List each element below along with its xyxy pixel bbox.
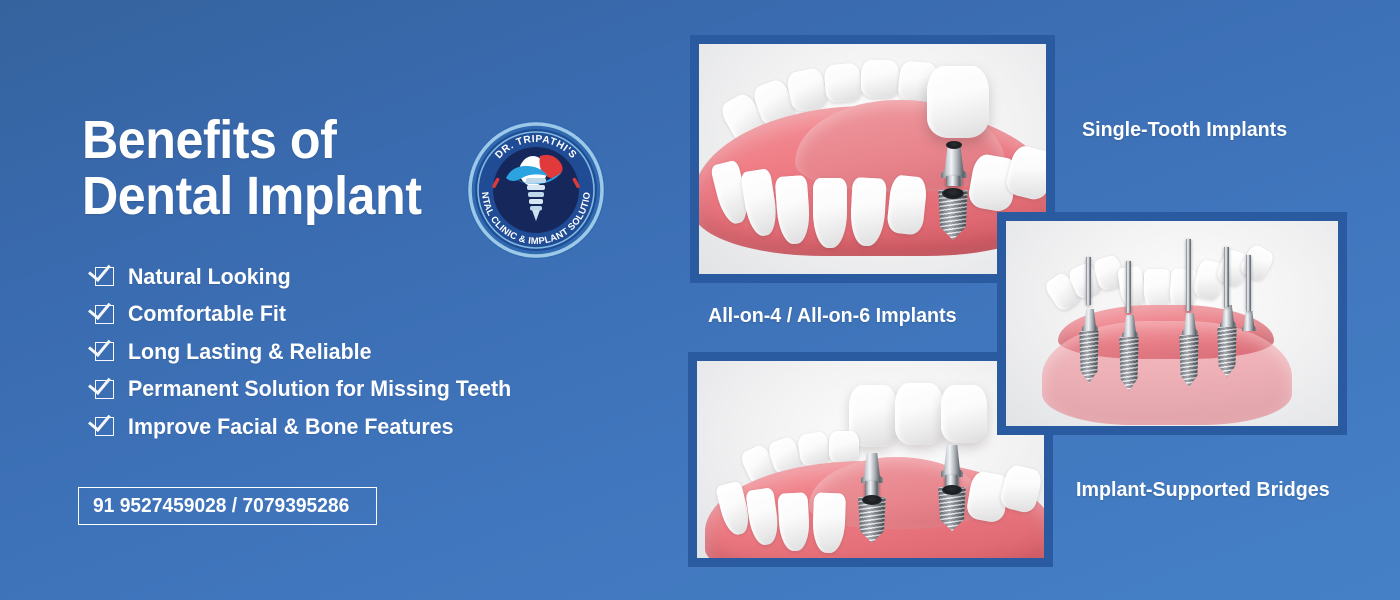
check-box-icon [95, 342, 114, 361]
benefit-label: Permanent Solution for Missing Teeth [128, 376, 511, 402]
benefit-label: Comfortable Fit [128, 301, 286, 327]
list-item: Permanent Solution for Missing Teeth [95, 371, 655, 409]
caption-single-tooth-implants: Single-Tooth Implants [1082, 118, 1287, 142]
list-item: Long Lasting & Reliable [95, 333, 655, 371]
caption-implant-supported-bridges: Implant-Supported Bridges [1076, 478, 1330, 502]
benefit-label: Improve Facial & Bone Features [128, 414, 453, 440]
list-item: Natural Looking [95, 258, 655, 296]
check-box-icon [95, 267, 114, 286]
list-item: Improve Facial & Bone Features [95, 408, 655, 446]
dental-implant-banner: Benefits of Dental Implant [0, 0, 1400, 600]
phone-number-text: 91 9527459028 / 7079395286 [93, 495, 349, 518]
check-box-icon [95, 380, 114, 399]
benefit-label: Natural Looking [128, 264, 291, 290]
caption-all-on-4-6-implants: All-on-4 / All-on-6 Implants [708, 304, 957, 328]
benefit-label: Long Lasting & Reliable [128, 339, 371, 365]
photo-all-on-four-implants [997, 212, 1347, 435]
phone-number-box[interactable]: 91 9527459028 / 7079395286 [78, 487, 377, 525]
benefits-list: Natural Looking Comfortable Fit Long Las… [95, 258, 655, 446]
check-box-icon [95, 417, 114, 436]
clinic-logo: DR. TRIPATHI'S DENTAL CLINIC & IMPLANT S… [466, 120, 606, 260]
check-box-icon [95, 305, 114, 324]
list-item: Comfortable Fit [95, 296, 655, 334]
